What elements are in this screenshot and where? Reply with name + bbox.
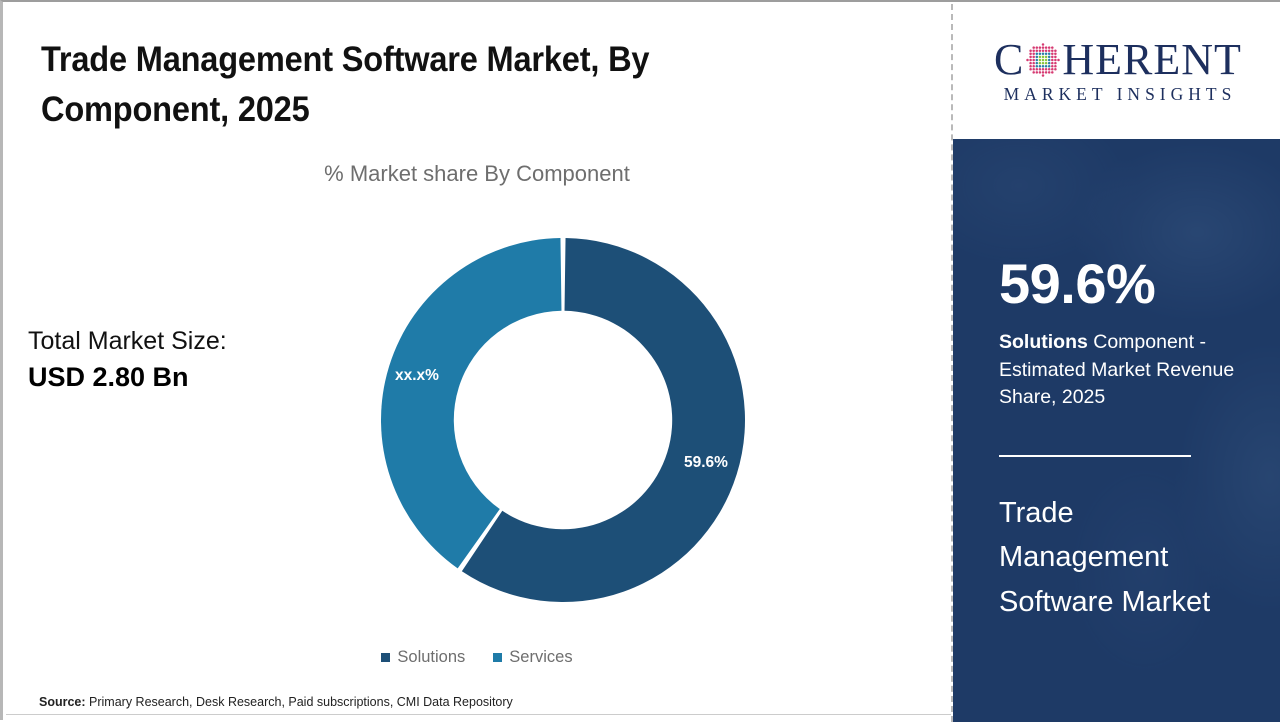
legend-item-solutions[interactable]: Solutions xyxy=(381,648,465,667)
panel-market-name: Trade Management Software Market xyxy=(999,491,1249,624)
logo-tagline: MARKET INSIGHTS xyxy=(1000,86,1237,104)
chart-legend: Solutions Services xyxy=(3,648,951,667)
total-market-size-value: USD 2.80 Bn xyxy=(28,358,328,396)
source-text: Primary Research, Desk Research, Paid su… xyxy=(86,695,513,709)
legend-swatch-services xyxy=(493,653,502,662)
total-market-size-block: Total Market Size: USD 2.80 Bn xyxy=(28,325,328,396)
stat-description-bold: Solutions xyxy=(999,331,1088,353)
chart-subtitle: % Market share By Component xyxy=(3,161,951,187)
legend-label-services: Services xyxy=(509,648,572,667)
right-column: C HERENT MARKET INSIGHTS 59.6% Solutions… xyxy=(953,2,1280,722)
legend-item-services[interactable]: Services xyxy=(493,648,572,667)
logo-word-herent: HERENT xyxy=(1062,38,1242,82)
stat-value: 59.6% xyxy=(999,256,1155,312)
slice-label-services: xx.x% xyxy=(395,367,439,385)
bottom-divider xyxy=(6,714,951,715)
brand-logo[interactable]: C HERENT MARKET INSIGHTS xyxy=(953,2,1280,139)
panel-content: 59.6% Solutions Component - Estimated Ma… xyxy=(999,139,1280,722)
donut-chart-svg xyxy=(381,235,745,605)
logo-letter-c: C xyxy=(994,38,1024,82)
dotted-globe-icon xyxy=(1025,42,1061,78)
logo-wordmark: C HERENT xyxy=(994,38,1242,82)
page-title: Trade Management Software Market, By Com… xyxy=(41,35,748,134)
donut-chart xyxy=(381,235,745,605)
infographic-frame: Trade Management Software Market, By Com… xyxy=(0,0,1280,720)
legend-swatch-solutions xyxy=(381,653,390,662)
panel-divider xyxy=(999,455,1191,457)
main-content-area: Trade Management Software Market, By Com… xyxy=(3,2,951,722)
donut-slice-services[interactable] xyxy=(381,238,561,568)
info-panel: 59.6% Solutions Component - Estimated Ma… xyxy=(953,139,1280,722)
source-line: Source: Primary Research, Desk Research,… xyxy=(39,695,513,709)
total-market-size-label: Total Market Size: xyxy=(28,325,328,358)
source-prefix: Source: xyxy=(39,695,86,709)
legend-label-solutions: Solutions xyxy=(397,648,465,667)
stat-description: Solutions Component - Estimated Market R… xyxy=(999,329,1237,412)
slice-label-solutions: 59.6% xyxy=(684,454,728,472)
